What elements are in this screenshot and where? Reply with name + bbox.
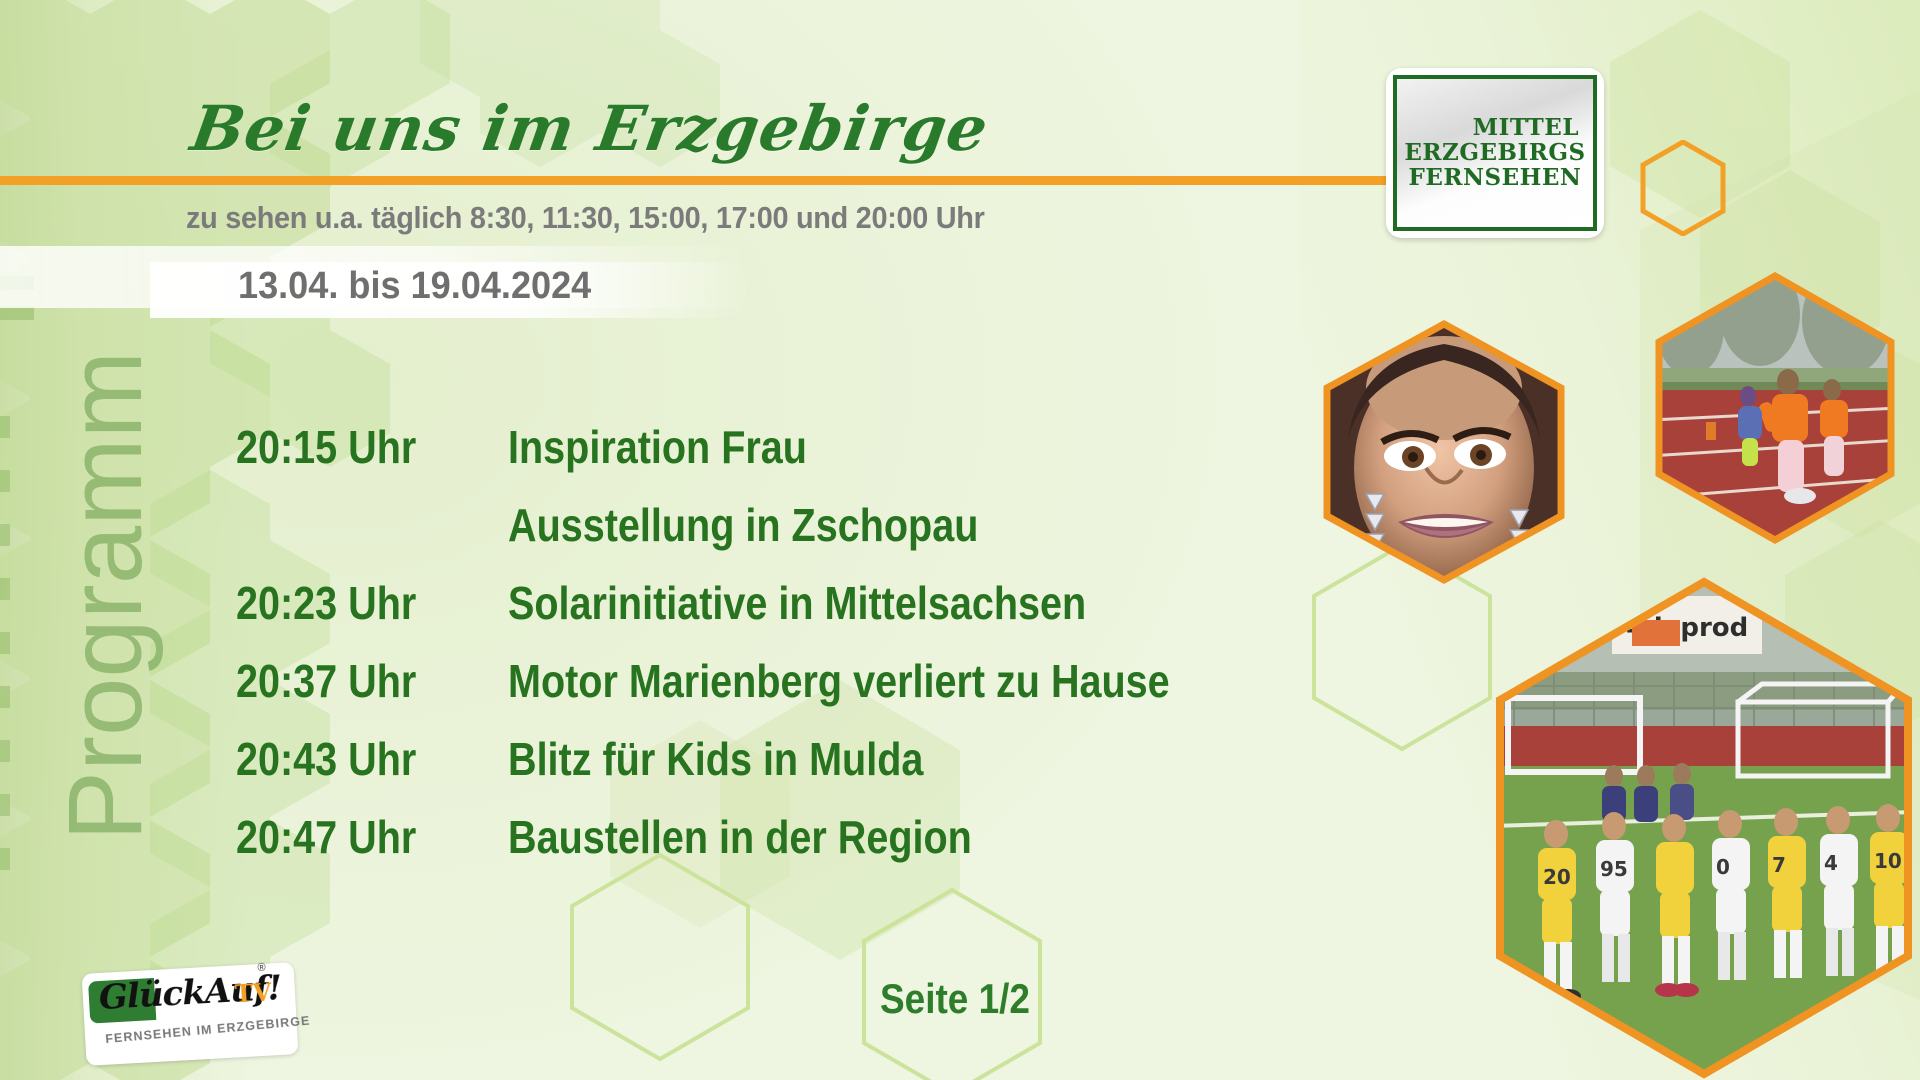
programme-time: 20:47 Uhr [236, 810, 470, 864]
channel-logo: GlückAuf! TV ® FERNSEHEN IM ERZGEBIRGE [82, 962, 299, 1066]
table-row: 20:23 Uhr Solarinitiative in Mittelsachs… [236, 576, 1296, 652]
channel-logo-tv: TV [234, 977, 272, 1008]
programme-title: Motor Marienberg verliert zu Hause [508, 654, 1170, 708]
svg-text:0: 0 [1716, 855, 1730, 879]
broadcast-times-subtitle: zu sehen u.a. täglich 8:30, 11:30, 15:00… [186, 200, 985, 236]
table-row: 20:43 Uhr Blitz für Kids in Mulda [236, 732, 1296, 808]
svg-text:4: 4 [1824, 851, 1838, 875]
svg-text:95: 95 [1600, 857, 1628, 881]
section-label-programm: Programm [46, 276, 166, 916]
broadcaster-logo-line-2: ERZGEBIRGS [1404, 141, 1585, 165]
photo-football-match-field: 4deprod [1494, 576, 1914, 1080]
photo-kids-running-track [1650, 270, 1900, 546]
programme-title: Blitz für Kids in Mulda [508, 732, 923, 786]
broadcaster-logo: MITTEL ERZGEBIRGS FERNSEHEN [1386, 68, 1604, 238]
programme-title: Ausstellung in Zschopau [508, 498, 978, 552]
programme-title: Baustellen in der Region [508, 810, 972, 864]
programme-time: 20:15 Uhr [236, 420, 470, 474]
table-row: 20:15 Uhr Ausstellung in Zschopau [236, 498, 1296, 574]
programme-title: Solarinitiative in Mittelsachsen [508, 576, 1086, 630]
broadcaster-logo-line-1: MITTEL [1473, 116, 1579, 140]
svg-text:10: 10 [1874, 849, 1902, 873]
registered-trademark-icon: ® [257, 962, 266, 974]
orange-hexagon-decoration [1640, 140, 1726, 241]
programme-list: 20:15 Uhr Inspiration Frau 20:15 Uhr Aus… [236, 420, 1296, 888]
svg-text:20: 20 [1543, 865, 1571, 889]
table-row: 20:47 Uhr Baustellen in der Region [236, 810, 1296, 886]
date-range-text: 13.04. bis 19.04.2024 [238, 265, 591, 308]
broadcaster-logo-line-3: FERNSEHEN [1409, 166, 1582, 190]
orange-divider-rule [0, 176, 1465, 185]
programme-slide: Bei uns im Erzgebirge zu sehen u.a. tägl… [0, 0, 1920, 1080]
svg-text:7: 7 [1772, 853, 1786, 877]
programme-time: 20:43 Uhr [236, 732, 470, 786]
programme-time: 20:23 Uhr [236, 576, 470, 630]
page-title: Bei uns im Erzgebirge [186, 92, 993, 165]
programme-time: 20:37 Uhr [236, 654, 470, 708]
programme-title: Inspiration Frau [508, 420, 807, 474]
page-indicator: Seite 1/2 [880, 975, 1030, 1023]
table-row: 20:15 Uhr Inspiration Frau [236, 420, 1296, 496]
table-row: 20:37 Uhr Motor Marienberg verliert zu H… [236, 654, 1296, 730]
photo-portrait-painting-woman [1318, 318, 1570, 586]
